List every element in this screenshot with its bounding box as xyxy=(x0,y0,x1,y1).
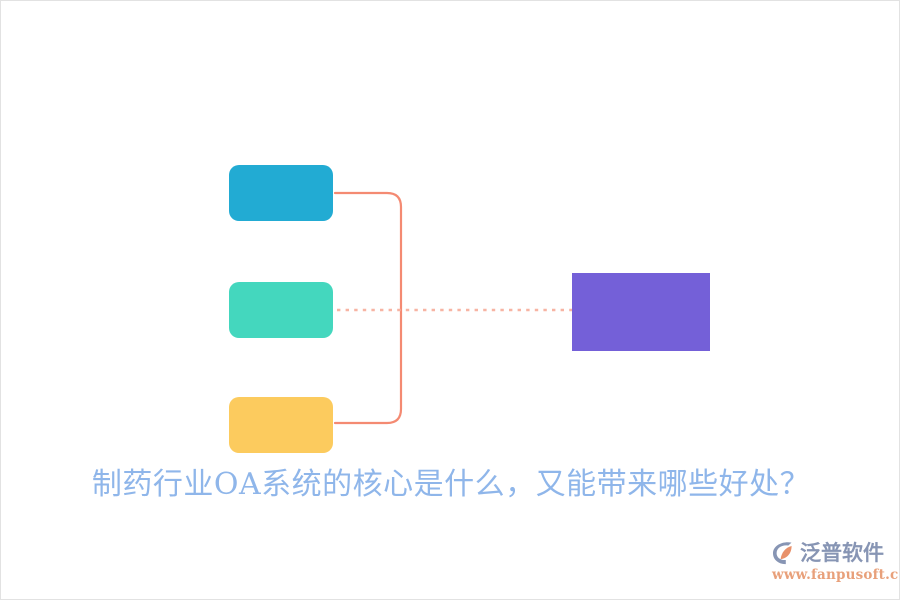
logo-brand-name: 泛普软件 xyxy=(800,540,884,566)
page-title: 制药行业OA系统的核心是什么，又能带来哪些好处？ xyxy=(1,463,900,507)
diagram-node-yellow[interactable] xyxy=(229,397,333,453)
diagram-node-teal[interactable] xyxy=(229,282,333,338)
diagram-node-purple[interactable] xyxy=(572,273,710,351)
logo-row: 泛普软件 xyxy=(771,539,884,567)
diagram-node-blue[interactable] xyxy=(229,165,333,221)
page-canvas: 制药行业OA系统的核心是什么，又能带来哪些好处？ 泛普软件 www.fanpus… xyxy=(0,0,900,600)
diagram-connectors xyxy=(1,1,900,600)
logo-website-url: www.fanpusoft.com xyxy=(772,567,900,583)
connector-blue-to-trunk xyxy=(335,193,401,423)
fanpu-logo-mark xyxy=(771,540,797,566)
brand-logo[interactable]: 泛普软件 www.fanpusoft.com xyxy=(771,539,893,589)
